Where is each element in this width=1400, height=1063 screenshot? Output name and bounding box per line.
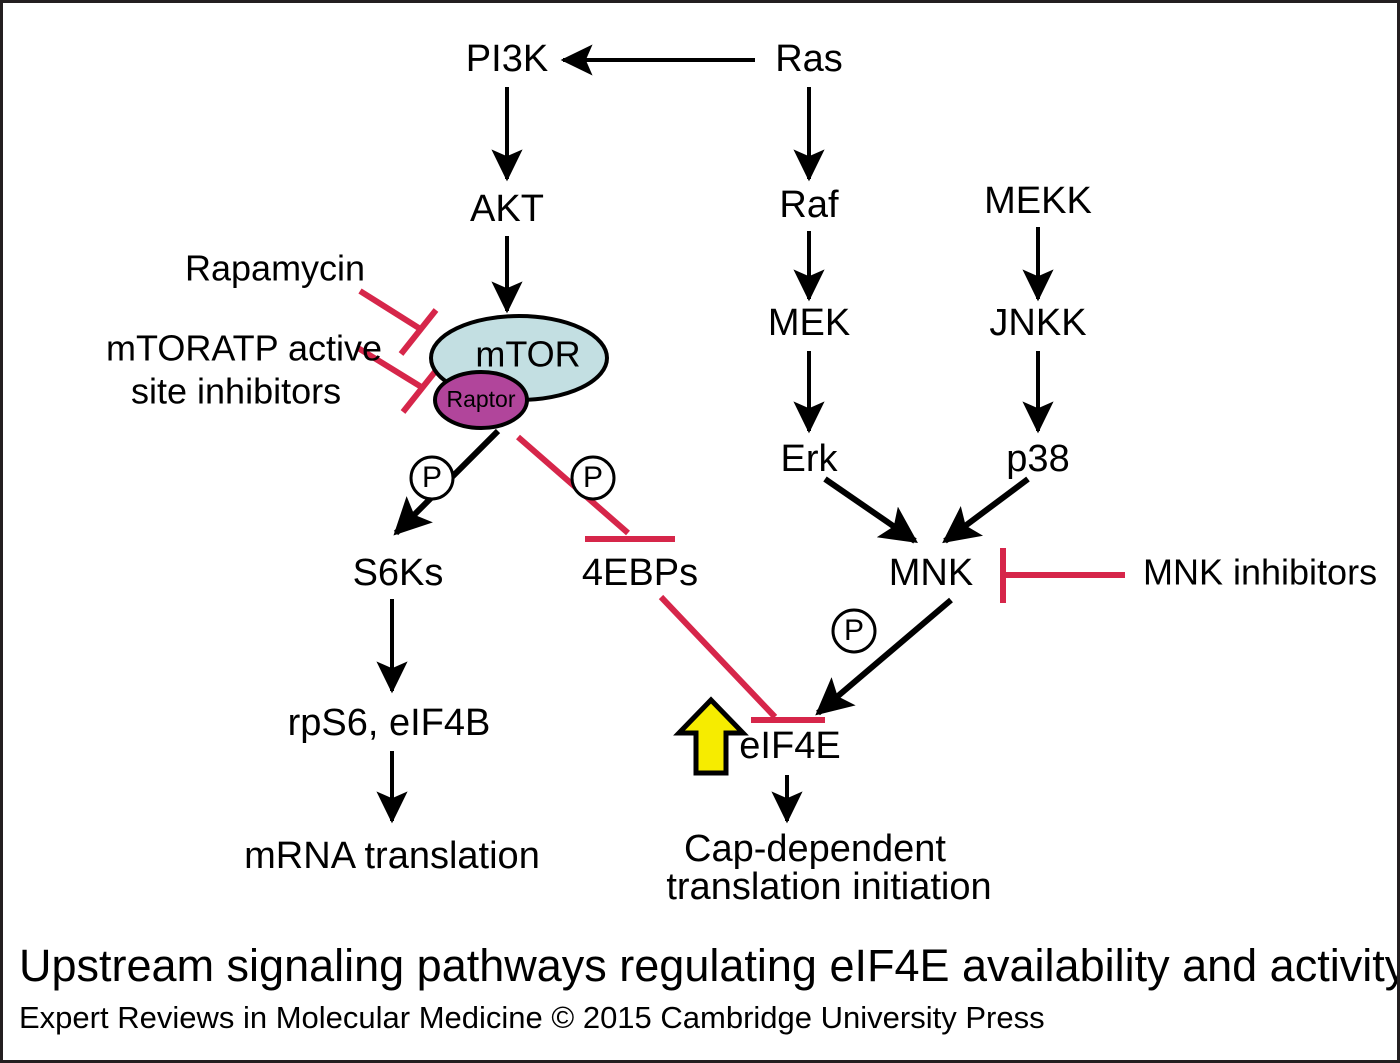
edge-mnk-inhibitors bbox=[1003, 548, 1125, 603]
figure-container: PI3K Ras AKT Raf MEKK MEK JNKK bbox=[0, 0, 1400, 1063]
node-s6ks: S6Ks bbox=[353, 552, 444, 594]
label-rapamycin: Rapamycin bbox=[185, 248, 365, 289]
phospho-mark-4ebps: P bbox=[572, 457, 614, 499]
edge-erk-to-mnk bbox=[825, 479, 915, 541]
node-mek: MEK bbox=[768, 302, 850, 344]
up-arrow-icon bbox=[679, 700, 743, 773]
node-raf: Raf bbox=[779, 184, 839, 226]
node-cap-dependent-line1: Cap-dependent bbox=[684, 828, 946, 870]
label-mtor-atp-inhibitors-line2: site inhibitors bbox=[131, 371, 341, 412]
edge-p38-to-mnk bbox=[945, 479, 1028, 541]
node-mrna-translation: mRNA translation bbox=[244, 835, 540, 877]
node-p38: p38 bbox=[1006, 438, 1069, 480]
label-mnk-inhibitors: MNK inhibitors bbox=[1143, 552, 1377, 593]
mtor-complex: mTOR Raptor bbox=[431, 316, 607, 428]
phospho-label: P bbox=[844, 614, 864, 647]
pathway-diagram: PI3K Ras AKT Raf MEKK MEK JNKK bbox=[3, 3, 1400, 1063]
node-cap-dependent-line2: translation initiation bbox=[666, 866, 991, 908]
node-jnkk: JNKK bbox=[989, 302, 1086, 344]
node-mekk: MEKK bbox=[984, 180, 1092, 222]
node-akt: AKT bbox=[470, 188, 544, 230]
raptor-label: Raptor bbox=[446, 386, 515, 412]
label-mtor-atp-inhibitors-line1: mTORATP active bbox=[106, 328, 382, 369]
node-4ebps: 4EBPs bbox=[582, 552, 698, 594]
node-rps6-eif4b: rpS6, eIF4B bbox=[288, 702, 491, 744]
mtor-label: mTOR bbox=[475, 334, 580, 375]
node-mnk: MNK bbox=[889, 552, 973, 594]
phospho-mark-mnk: P bbox=[833, 610, 875, 652]
node-erk: Erk bbox=[781, 438, 839, 480]
phospho-label: P bbox=[422, 461, 442, 494]
upregulation-arrow bbox=[679, 700, 743, 773]
edge-4ebps-to-eif4e-inhibition bbox=[661, 597, 825, 720]
figure-title: Upstream signaling pathways regulating e… bbox=[19, 940, 1400, 991]
figure-credit: Expert Reviews in Molecular Medicine © 2… bbox=[19, 1000, 1045, 1035]
node-pi3k: PI3K bbox=[466, 38, 548, 80]
node-ras: Ras bbox=[775, 38, 843, 80]
phospho-label: P bbox=[583, 461, 603, 494]
node-eif4e: eIF4E bbox=[739, 725, 840, 767]
phospho-mark-s6ks: P bbox=[411, 457, 453, 499]
